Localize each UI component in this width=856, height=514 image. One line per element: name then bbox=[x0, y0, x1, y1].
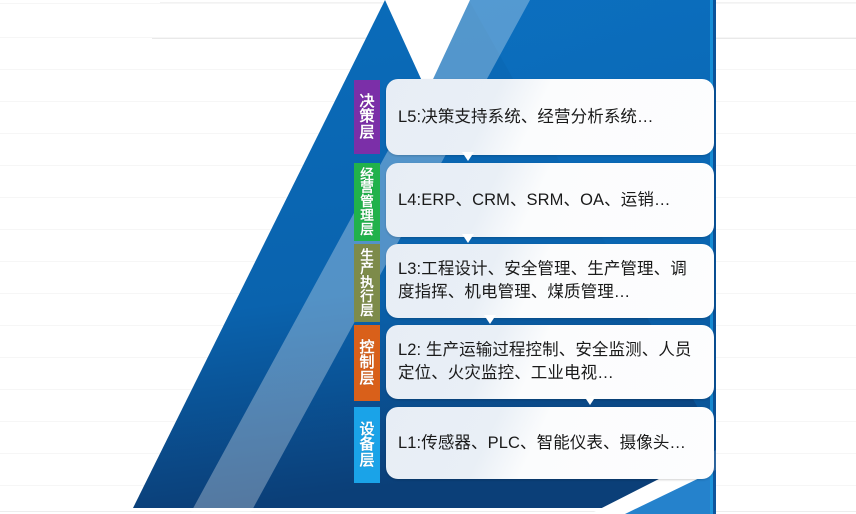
layer-card-text-l4: L4:ERP、CRM、SRM、OA、运销… bbox=[398, 189, 671, 212]
tab-char: 策 bbox=[359, 109, 374, 124]
tab-char: 备 bbox=[359, 437, 374, 452]
tab-char: 层 bbox=[360, 304, 374, 318]
tab-char: 理 bbox=[360, 209, 374, 223]
tab-label-l4[interactable]: 经 营 管 理 层 bbox=[354, 163, 380, 241]
down-arrow-marker-l3 bbox=[484, 315, 496, 324]
layer-card-text-l3: L3:工程设计、安全管理、生产管理、调度指挥、机电管理、煤质管理… bbox=[398, 258, 702, 304]
layer-card-l1[interactable]: L1:传感器、PLC、智能仪表、摄像头… bbox=[386, 407, 714, 479]
layer-card-l4[interactable]: L4:ERP、CRM、SRM、OA、运销… bbox=[386, 163, 714, 237]
layer-stack: 决 策 层 L5:决策支持系统、经营分析系统… 经 营 管 理 层 L4:ERP… bbox=[0, 0, 856, 514]
layer-card-l5[interactable]: L5:决策支持系统、经营分析系统… bbox=[386, 79, 714, 155]
down-arrow-marker-l5 bbox=[462, 152, 474, 161]
layer-card-text-l2: L2: 生产运输过程控制、安全监测、人员定位、火灾监控、工业电视… bbox=[398, 339, 702, 385]
tab-char: 层 bbox=[359, 371, 374, 386]
tab-char: 层 bbox=[359, 453, 374, 468]
layer-card-l2[interactable]: L2: 生产运输过程控制、安全监测、人员定位、火灾监控、工业电视… bbox=[386, 325, 714, 399]
tab-char: 层 bbox=[359, 125, 374, 140]
down-arrow-marker-l2 bbox=[584, 396, 596, 405]
tab-char: 执 bbox=[360, 276, 374, 290]
tab-char: 行 bbox=[360, 290, 374, 304]
tab-label-l1[interactable]: 设 备 层 bbox=[354, 407, 380, 483]
tab-char: 制 bbox=[359, 355, 374, 370]
layer-card-text-l1: L1:传感器、PLC、智能仪表、摄像头… bbox=[398, 432, 686, 455]
down-arrow-marker-l4 bbox=[462, 234, 474, 243]
layer-card-l3[interactable]: L3:工程设计、安全管理、生产管理、调度指挥、机电管理、煤质管理… bbox=[386, 244, 714, 318]
tab-label-l2[interactable]: 控 制 层 bbox=[354, 325, 380, 401]
tab-label-l3[interactable]: 生 产 执 行 层 bbox=[354, 244, 380, 322]
diagram-canvas: 决 策 层 L5:决策支持系统、经营分析系统… 经 营 管 理 层 L4:ERP… bbox=[0, 0, 856, 514]
tab-label-l5[interactable]: 决 策 层 bbox=[354, 80, 380, 154]
tab-char: 管 bbox=[360, 195, 374, 209]
tab-char: 层 bbox=[360, 223, 374, 237]
layer-card-text-l5: L5:决策支持系统、经营分析系统… bbox=[398, 106, 654, 129]
